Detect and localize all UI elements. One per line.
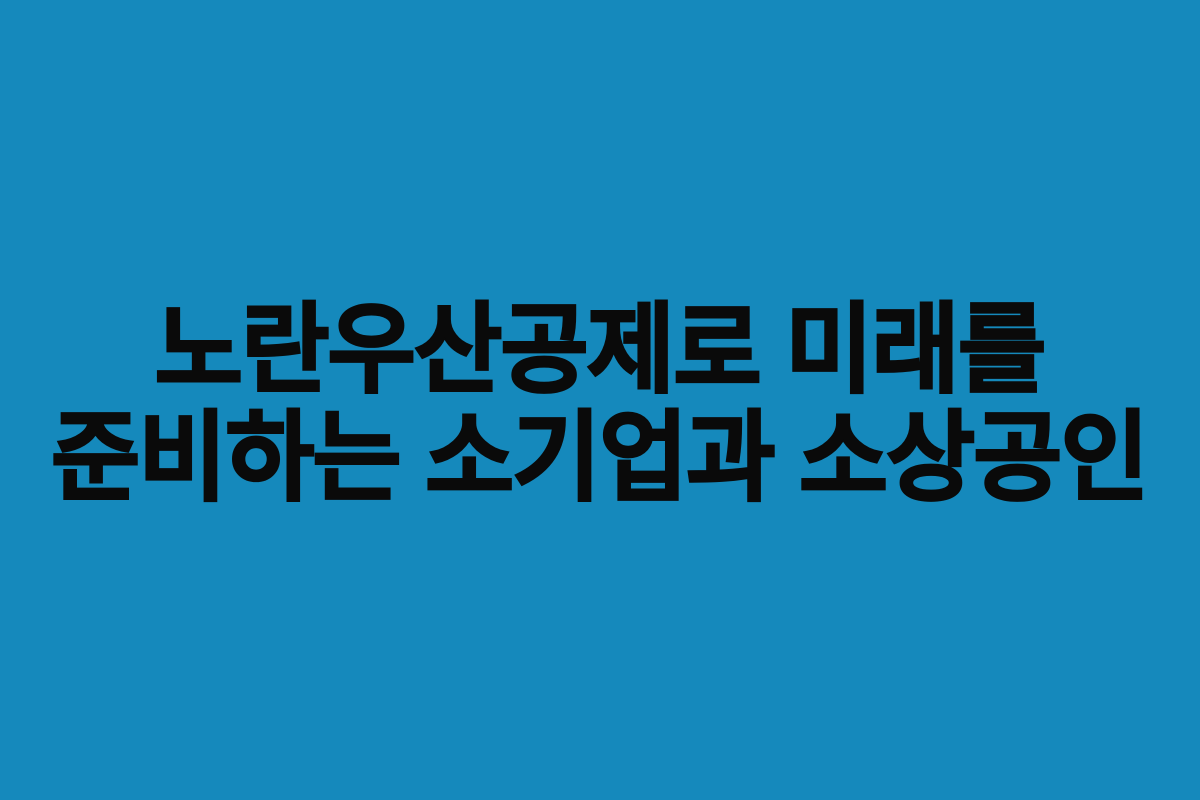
- banner-canvas: 노란우산공제로 미래를 준비하는 소기업과 소상공인: [0, 0, 1200, 800]
- headline-line-2: 준비하는 소기업과 소상공인: [52, 410, 1148, 512]
- headline-line-1: 노란우산공제로 미래를: [155, 302, 1045, 404]
- headline-block: 노란우산공제로 미래를 준비하는 소기업과 소상공인: [0, 0, 1200, 800]
